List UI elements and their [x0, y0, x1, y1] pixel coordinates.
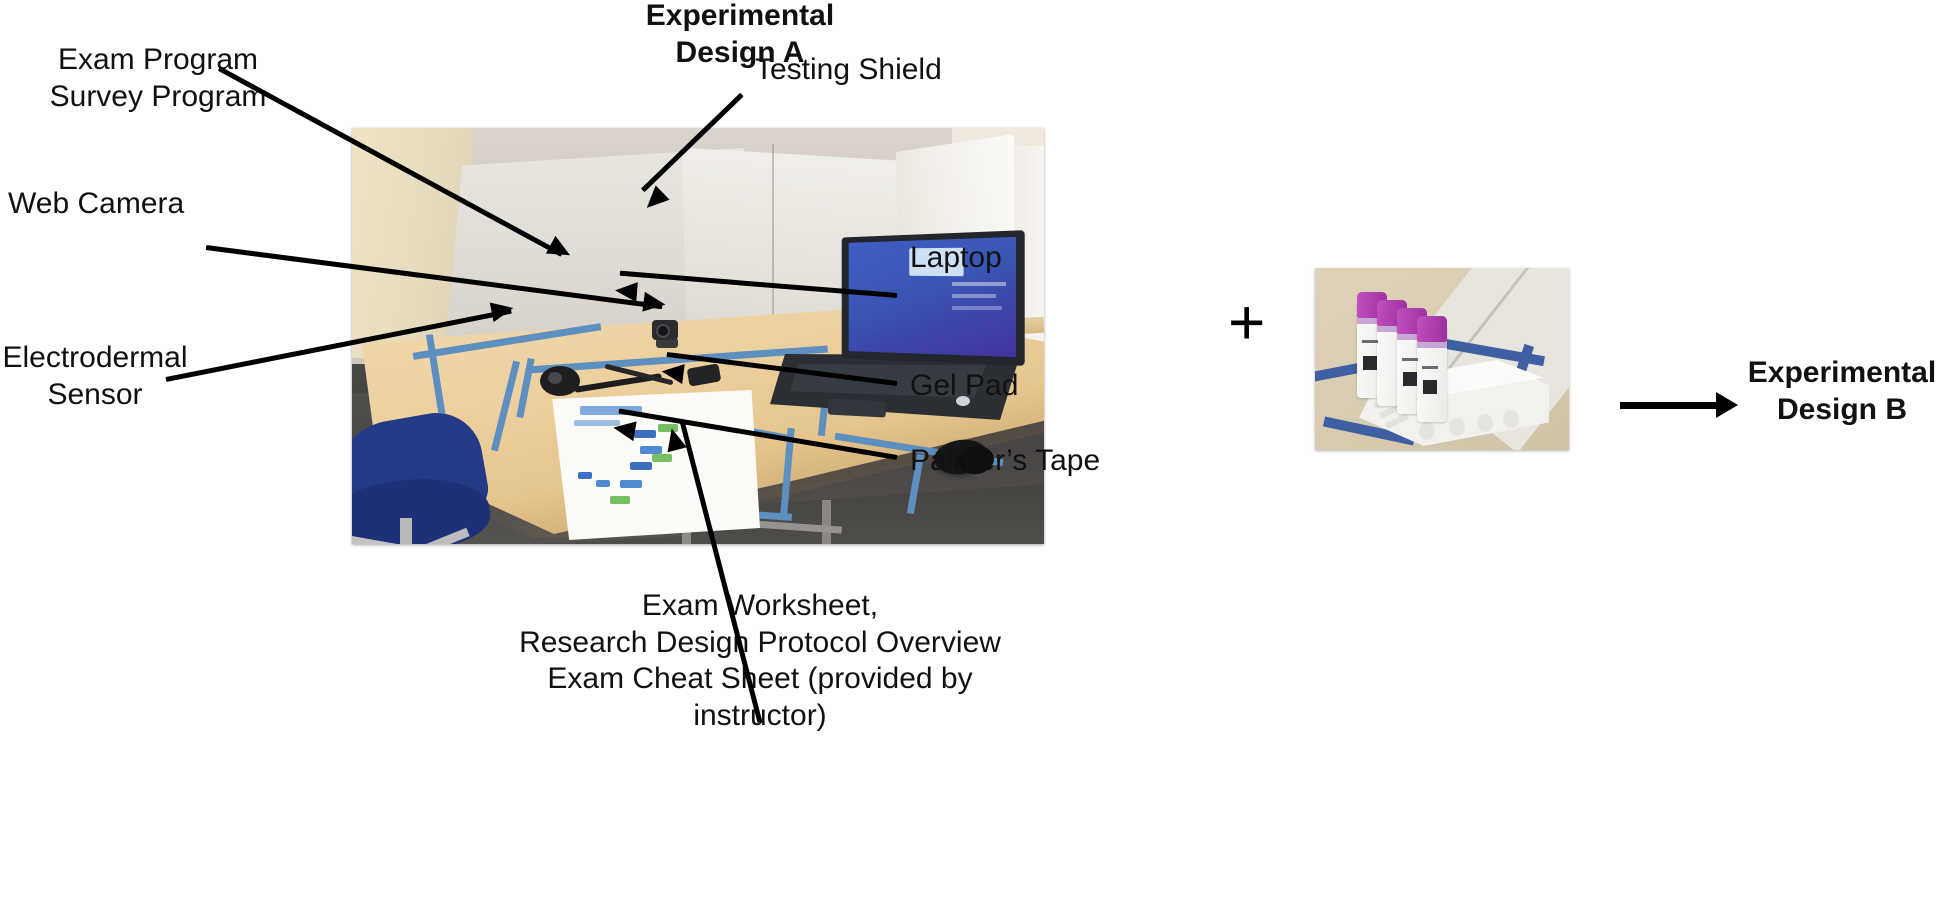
electrodermal-sensor-highlight: [548, 372, 562, 384]
office-chair-post: [400, 518, 412, 544]
tube-text-line: [1402, 358, 1418, 361]
tube-collar: [1417, 342, 1447, 348]
leader-arrowhead-electrodermal-sensor: [490, 298, 515, 322]
callout-label-web-camera: Web Camera: [8, 186, 184, 223]
worksheet-chart-block: [578, 472, 592, 479]
leader-arrowhead-painters-tape: [612, 418, 637, 441]
callout-label-gel-pad: Gel Pad: [910, 368, 1018, 405]
worksheet-chart-block: [610, 496, 630, 504]
callout-label-exam-survey-program: Exam Program Survey Program: [8, 42, 308, 115]
survey-program-text-line: [952, 282, 1006, 286]
leader-arrowhead-laptop: [614, 280, 638, 302]
desk-leg: [822, 500, 831, 544]
tube-barcode-label: [1403, 372, 1417, 386]
leader-arrowhead-gel-pad: [660, 361, 684, 384]
tube-text-line: [1422, 366, 1438, 369]
plus-icon: +: [1228, 290, 1265, 354]
survey-program-text-line: [952, 294, 996, 298]
figure-canvas: Experimental Design A: [0, 0, 1944, 912]
tube-barcode-label: [1423, 380, 1437, 394]
leader-arrowhead-web-camera: [642, 292, 666, 315]
tube-barcode-label: [1363, 356, 1377, 370]
combine-arrow-head: [1716, 392, 1738, 418]
callout-label-electrodermal-sensor: Electrodermal Sensor: [0, 340, 190, 413]
worksheet-chart-block: [596, 480, 610, 487]
worksheet-chart-block: [620, 480, 642, 488]
tube-text-line: [1362, 340, 1378, 343]
combine-arrow-shaft: [1620, 402, 1718, 409]
worksheet-chart-block: [634, 430, 656, 438]
laptop-trackpad: [828, 398, 887, 417]
callout-label-testing-shield: Testing Shield: [755, 52, 942, 89]
worksheet-chart-block: [630, 462, 652, 470]
rack-well: [1477, 414, 1493, 432]
callout-label-laptop: Laptop: [910, 240, 1002, 277]
worksheet-chart-block: [652, 454, 672, 462]
web-camera-lens: [656, 324, 670, 338]
tube-cap-purple: [1417, 316, 1447, 342]
saliva-collection-tubes-photo: [1315, 268, 1569, 450]
callout-label-painters-tape: Painter’s Tape: [910, 443, 1100, 480]
survey-program-text-line: [952, 306, 1002, 310]
rack-well: [1503, 410, 1519, 428]
rack-well: [1449, 418, 1465, 436]
worksheet-chart-block: [640, 446, 662, 454]
experimental-design-b-title: Experimental Design B: [1740, 355, 1944, 428]
rack-well: [1419, 422, 1435, 440]
